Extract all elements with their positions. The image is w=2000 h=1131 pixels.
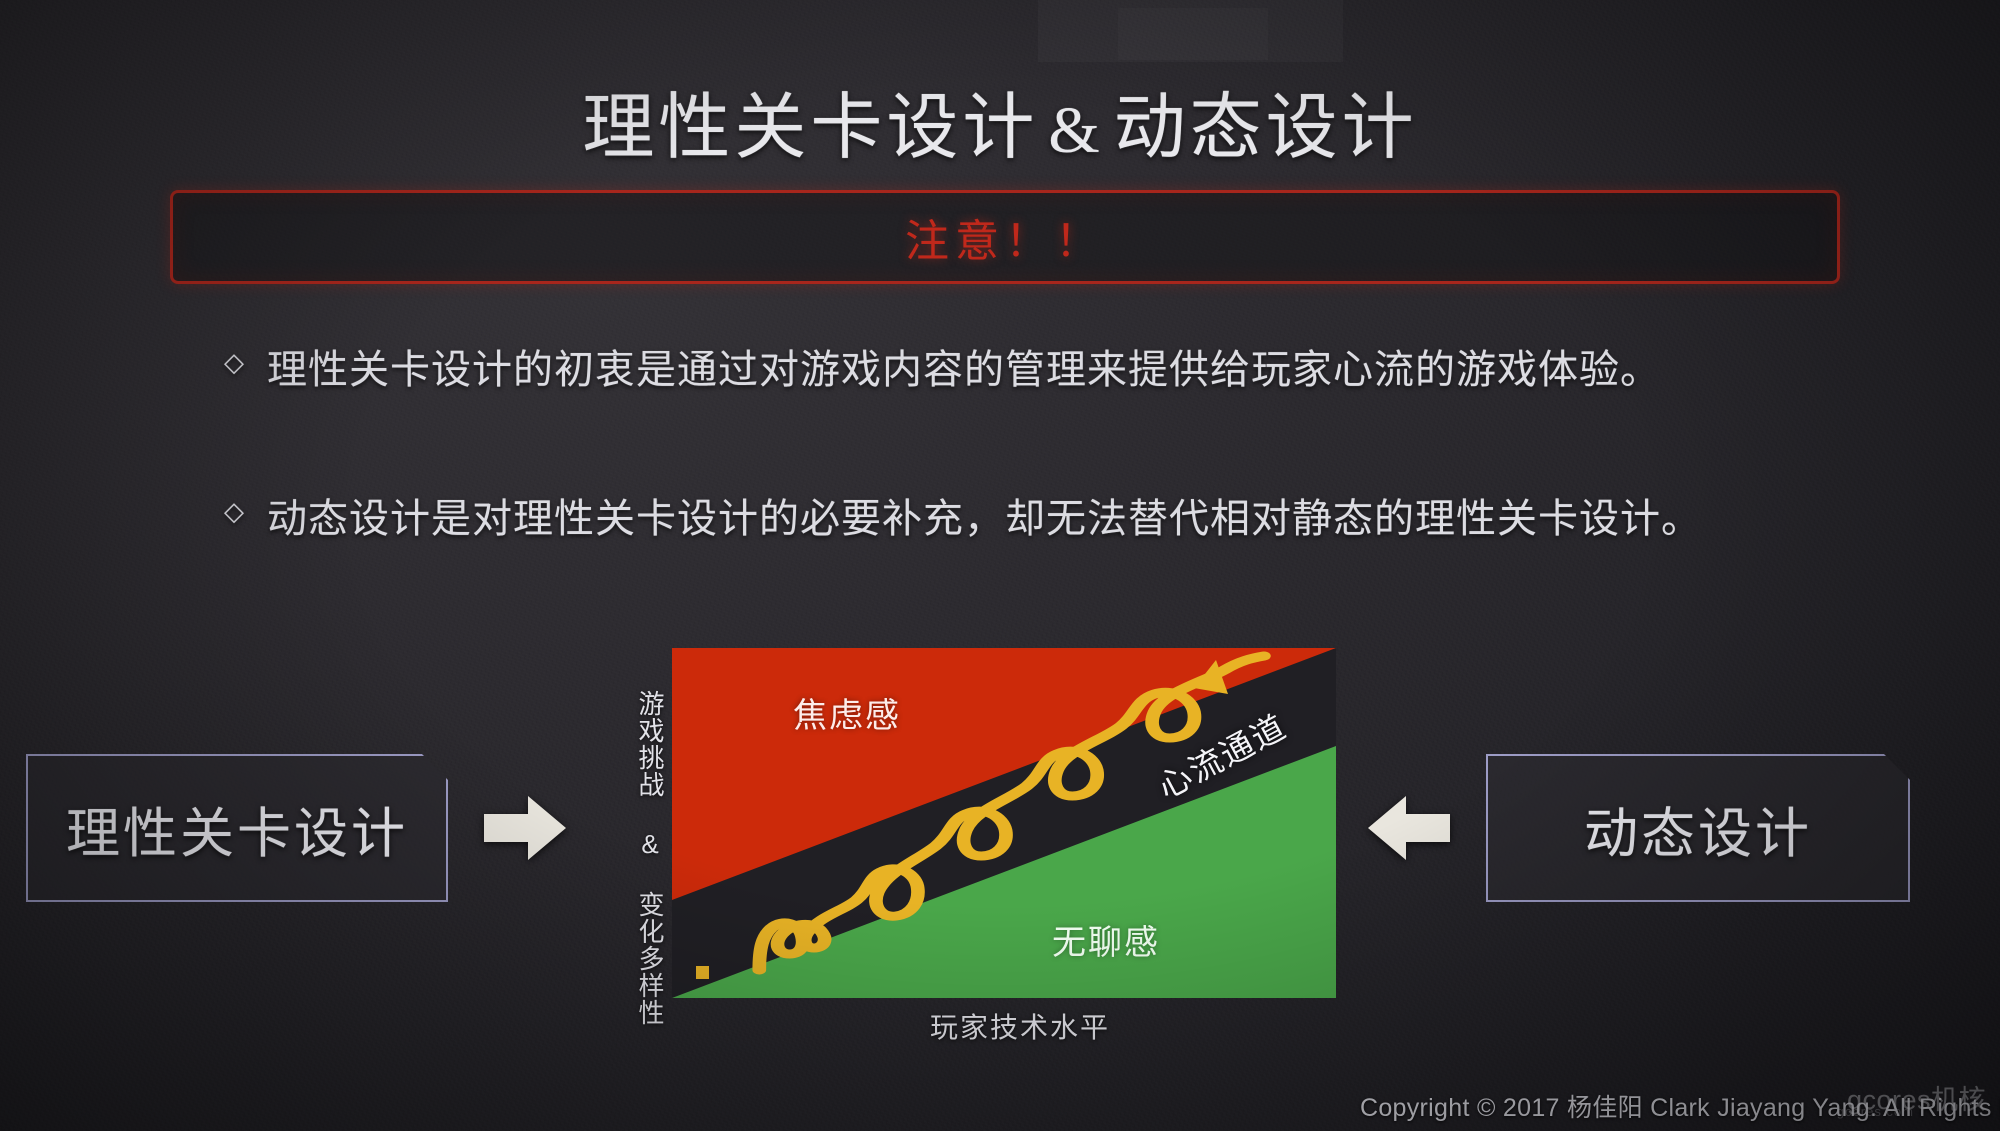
path-start-marker [696,966,709,979]
title-main-text: 理性关卡设计 [582,88,1038,168]
flow-channel-diagram [672,648,1336,998]
warning-text: 注意！！ [905,205,1105,269]
concept-box-right-label: 动态设计 [1584,789,1812,868]
chart-x-axis-label: 玩家技术水平 [930,1006,1110,1046]
bullet-text-1: 理性关卡设计的初衷是通过对游戏内容的管理来提供给玩家心流的游戏体验。 [267,337,1661,395]
bullet-item-1: ◇ 理性关卡设计的初衷是通过对游戏内容的管理来提供给玩家心流的游戏体验。 [224,337,1661,395]
bullet-item-2: ◇ 动态设计是对理性关卡设计的必要补充，却无法替代相对静态的理性关卡设计。 [224,486,1702,544]
slide-canvas: 理性关卡设计&动态设计 注意！！ ◇ 理性关卡设计的初衷是通过对游戏内容的管理来… [0,0,2000,1131]
flow-channel-svg [672,648,1336,998]
page-title: 理性关卡设计&动态设计 [0,68,2000,173]
diamond-bullet-icon: ◇ [224,349,245,375]
warning-callout-box: 注意！！ [170,190,1840,284]
title-ampersand: & [1038,94,1113,167]
chart-y-axis-label: 游戏挑战 & 变化多样性 [609,690,669,1026]
concept-box-left-label: 理性关卡设计 [66,789,408,868]
title-secondary-text: 动态设计 [1114,88,1418,168]
top-glare-artifact-inner [1118,8,1268,60]
bullet-text-2: 动态设计是对理性关卡设计的必要补充，却无法替代相对静态的理性关卡设计。 [267,486,1702,544]
arrow-right-icon [482,792,568,864]
top-glare-artifact [1038,0,1343,62]
arrow-left-icon [1366,792,1452,864]
concept-box-dynamic-design: 动态设计 [1486,754,1910,902]
diamond-bullet-icon: ◇ [224,498,245,524]
watermark-sub: gcores.com [1837,1104,1914,1119]
concept-box-rational-level-design: 理性关卡设计 [26,754,448,902]
